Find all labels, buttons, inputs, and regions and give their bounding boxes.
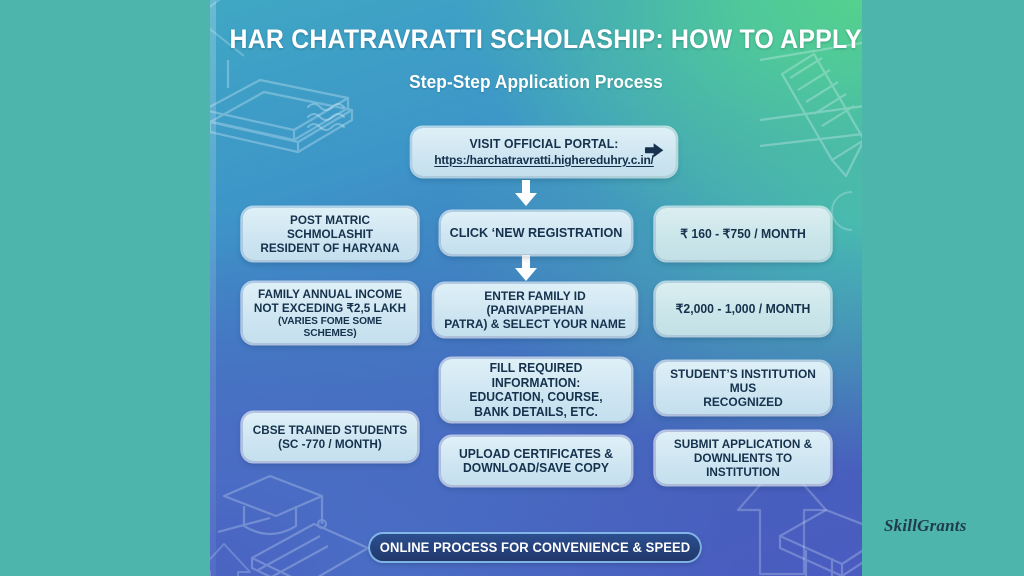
card-line: FAMILY ANNUAL INCOME — [250, 287, 409, 301]
portal-label: VISIT OFFICIAL PORTAL: — [470, 137, 619, 152]
step-card-2[interactable]: ENTER FAMILY ID (PARIVAPPEHAN PATRA) & S… — [434, 284, 636, 336]
page-subtitle: Step-Step Application Process — [223, 72, 849, 93]
card-line: ₹2,000 - 1,000 / MONTH — [676, 302, 811, 317]
card-note: (VARIES FOME SOME SCHEMES) — [250, 315, 409, 339]
summary-banner-text: ONLINE PROCESS FOR CONVENIENCE & SPEED — [380, 540, 690, 555]
card-line: BANK DETAILS, ETC. — [449, 405, 624, 420]
squiggle-icon — [305, 100, 355, 134]
arrow-right-icon — [645, 143, 664, 162]
condition-card-2[interactable]: SUBMIT APPLICATION & DOWNLIENTS TO INSTI… — [656, 432, 831, 484]
card-line: CBSE TRAINED STUDENTS — [253, 423, 407, 437]
step-card-3[interactable]: FILL REQUIRED INFORMATION: EDUCATION, CO… — [441, 359, 631, 421]
card-line: STUDENT’S INSTITUTION MUS — [663, 367, 822, 396]
panel-edge-highlight — [210, 0, 216, 576]
summary-banner: ONLINE PROCESS FOR CONVENIENCE & SPEED — [370, 534, 700, 561]
card-line: SUBMIT APPLICATION & — [663, 437, 822, 451]
card-line: POST MATRIC SCHMOLASHIT — [250, 213, 409, 241]
page-title: HAR CHATRAVRATTI SCHOLASHIP: HOW TO APPL… — [230, 26, 843, 54]
card-line: RECOGNIZED — [663, 395, 822, 409]
books-icon — [210, 46, 388, 166]
condition-card-1[interactable]: STUDENT’S INSTITUTION MUS RECOGNIZED — [656, 362, 831, 414]
official-portal-card[interactable]: VISIT OFFICIAL PORTAL: https:/harchatrav… — [412, 128, 676, 176]
card-line: CLICK ‘NEW REGISTRATION — [450, 225, 623, 240]
portal-url[interactable]: https:/harchatravratti.highereduhry.c.in… — [434, 153, 654, 167]
infographic-canvas: HAR CHATRAVRATTI SCHOLASHIP: HOW TO APPL… — [0, 0, 1024, 576]
arrow-down-icon — [514, 180, 538, 211]
open-book-icon — [776, 506, 862, 576]
card-line: (SC -770 / MONTH) — [253, 437, 407, 451]
eligibility-card-3[interactable]: CBSE TRAINED STUDENTS (SC -770 / MONTH) — [243, 413, 418, 461]
arrow-up-small-icon — [210, 540, 260, 576]
step-card-1[interactable]: CLICK ‘NEW REGISTRATION — [441, 212, 631, 254]
step-card-4[interactable]: UPLOAD CERTIFICATES & DOWNLOAD/SAVE COPY — [441, 437, 631, 485]
card-line: DOWNLOAD/SAVE COPY — [459, 461, 613, 476]
graduation-cap-icon — [218, 462, 388, 576]
amount-card-1[interactable]: ₹ 160 - ₹750 / MONTH — [656, 208, 831, 260]
pencil-icon — [760, 34, 862, 194]
arrow-down-icon — [514, 255, 538, 286]
eligibility-card-1[interactable]: POST MATRIC SCHMOLASHIT RESIDENT OF HARY… — [243, 208, 418, 260]
brand-logo: SkillGrants — [884, 516, 967, 536]
card-line: PATRA) & SELECT YOUR NAME — [442, 317, 628, 331]
card-line: EDUCATION, COURSE, — [449, 390, 624, 405]
card-line: UPLOAD CERTIFICATES & — [459, 447, 613, 462]
infographic-panel: HAR CHATRAVRATTI SCHOLASHIP: HOW TO APPL… — [210, 0, 862, 576]
card-line: ₹ 160 - ₹750 / MONTH — [680, 227, 806, 242]
card-line: FILL REQUIRED INFORMATION: — [449, 361, 624, 390]
card-line: ENTER FAMILY ID (PARIVAPPEHAN — [442, 289, 628, 318]
eligibility-card-2[interactable]: FAMILY ANNUAL INCOME NOT EXCEDING ₹2,5 L… — [243, 283, 418, 343]
card-line: RESIDENT OF HARYANA — [250, 241, 409, 255]
card-line: NOT EXCEDING ₹2,5 LAKH — [250, 301, 409, 315]
amount-card-2[interactable]: ₹2,000 - 1,000 / MONTH — [656, 283, 831, 335]
card-line: DOWNLIENTS TO INSTITUTION — [663, 451, 822, 479]
